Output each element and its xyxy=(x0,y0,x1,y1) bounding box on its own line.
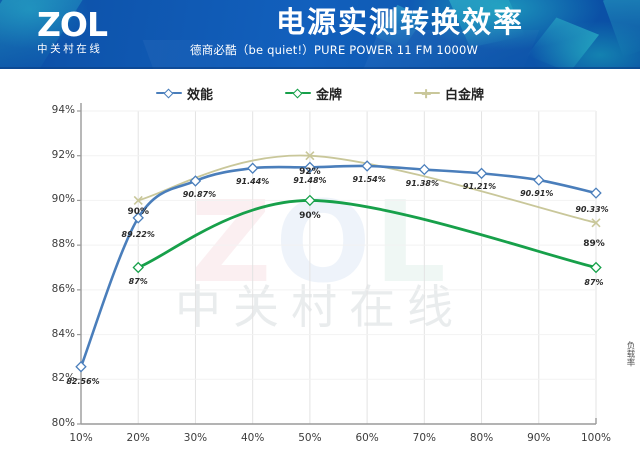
page-title: 电源实测转换效率 xyxy=(185,4,615,40)
data-point-label: 89.22% xyxy=(108,230,168,239)
chart-plot-area: 80%82%84%86%88%90%92%94%10%20%30%40%50%6… xyxy=(0,69,640,468)
data-point-label: 91.48% xyxy=(280,176,340,185)
data-point-label: 91.54% xyxy=(339,175,399,184)
data-point-marker[interactable] xyxy=(248,163,258,173)
x-axis-tick-label: 90% xyxy=(513,432,565,444)
y-axis-tick-label: 90% xyxy=(33,193,75,205)
y-axis-tick-label: 84% xyxy=(33,328,75,340)
zol-logo: ZOL 中关村在线 xyxy=(37,8,142,60)
data-point-label: 82.56% xyxy=(53,377,113,386)
x-axis-tick-label: 50% xyxy=(284,432,336,444)
x-axis-tick-label: 80% xyxy=(456,432,508,444)
data-point-label: 87% xyxy=(108,277,168,286)
y-axis-tick-label: 94% xyxy=(33,104,75,116)
zol-logo-wordmark: ZOL xyxy=(37,8,142,42)
x-axis-tick-label: 10% xyxy=(55,432,107,444)
data-point-label: 92% xyxy=(280,167,340,177)
page-subtitle: 德商必酷（be quiet!）PURE POWER 11 FM 1000W xyxy=(190,42,610,58)
data-point-label: 91.44% xyxy=(223,177,283,186)
zol-logo-subtitle: 中关村在线 xyxy=(37,43,142,55)
y-axis-tick-label: 86% xyxy=(33,283,75,295)
x-axis-tick-label: 60% xyxy=(341,432,393,444)
y-axis-tick-label: 80% xyxy=(33,417,75,429)
y-axis-tick-label: 88% xyxy=(33,238,75,250)
data-point-label: 90% xyxy=(280,211,340,221)
header-banner: ZOL 中关村在线 电源实测转换效率 德商必酷（be quiet!）PURE P… xyxy=(0,0,640,69)
data-point-marker[interactable] xyxy=(477,169,487,179)
x-axis-tick-label: 30% xyxy=(169,432,221,444)
x-axis-tick-label: 70% xyxy=(398,432,450,444)
data-point-label: 90% xyxy=(108,207,168,217)
chart-container: ZOL 中关村在线 效能 金牌 白金牌 xyxy=(0,69,640,468)
data-point-label: 89% xyxy=(564,239,624,249)
chart-svg xyxy=(0,69,640,468)
data-point-marker[interactable] xyxy=(305,196,315,206)
data-point-marker[interactable] xyxy=(534,175,544,185)
chart-screenshot: ZOL 中关村在线 电源实测转换效率 德商必酷（be quiet!）PURE P… xyxy=(0,0,640,468)
data-point-label: 87% xyxy=(564,278,624,287)
data-point-marker[interactable] xyxy=(133,263,143,273)
x-axis-tick-label: 40% xyxy=(227,432,279,444)
data-point-marker[interactable] xyxy=(591,188,601,198)
data-point-label: 91.21% xyxy=(450,182,510,191)
data-point-marker[interactable] xyxy=(591,263,601,273)
data-point-label: 91.38% xyxy=(392,179,452,188)
data-point-label: 90.33% xyxy=(562,205,622,214)
x-axis-title: 负载率 xyxy=(622,341,636,367)
data-point-label: 90.87% xyxy=(169,190,229,199)
y-axis-tick-label: 92% xyxy=(33,149,75,161)
data-point-marker[interactable] xyxy=(76,362,86,372)
x-axis-tick-label: 20% xyxy=(112,432,164,444)
data-point-label: 90.91% xyxy=(507,189,567,198)
data-point-marker[interactable] xyxy=(420,165,430,175)
x-axis-tick-label: 100% xyxy=(570,432,622,444)
